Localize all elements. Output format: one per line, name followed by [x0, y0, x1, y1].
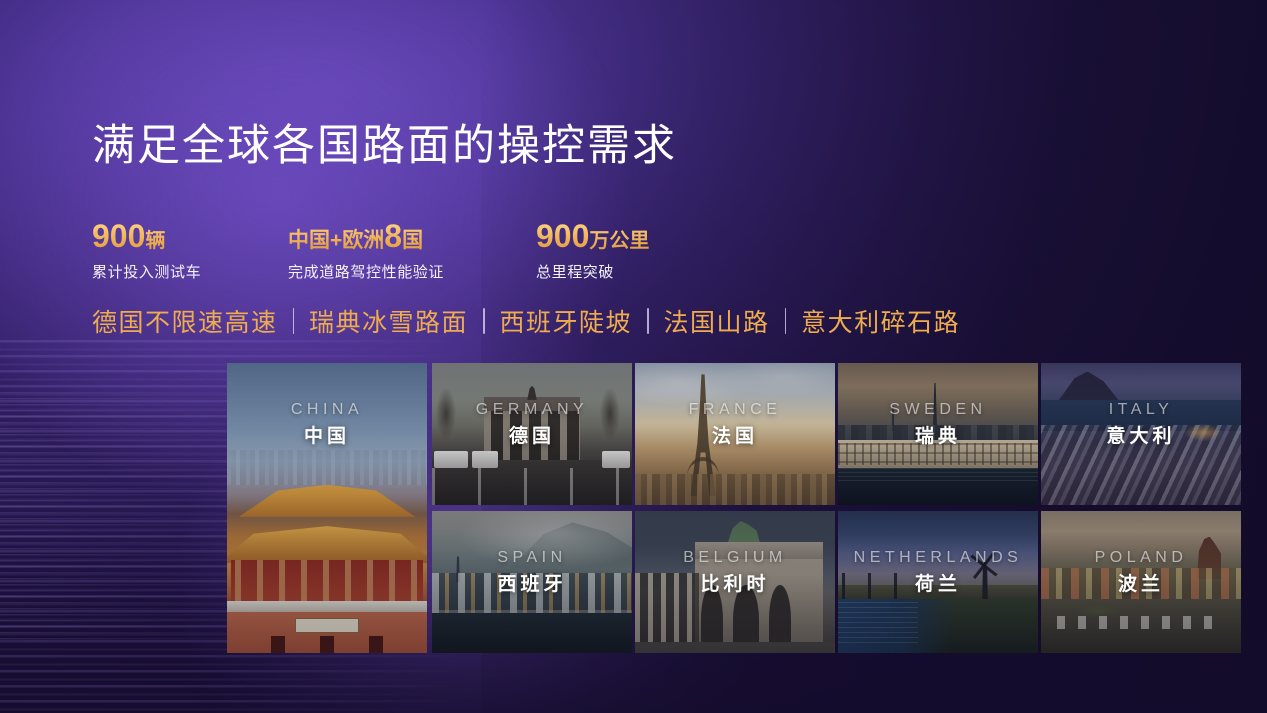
stat-value: 900辆 — [92, 219, 288, 255]
road-types-list: 德国不限速高速 瑞典冰雪路面 西班牙陡坡 法国山路 意大利碎石路 — [92, 303, 960, 339]
tile-caption: FRANCE 法国 — [635, 401, 835, 448]
tile-italy[interactable]: ITALY 意大利 — [1041, 363, 1241, 505]
stat-unit: 万公里 — [589, 230, 649, 252]
stat-countries: 中国+欧洲8国 完成道路驾控性能验证 — [288, 219, 536, 282]
road-type-item: 德国不限速高速 — [92, 303, 278, 339]
tile-france[interactable]: FRANCE 法国 — [635, 363, 835, 505]
tile-label-zh: 法国 — [635, 421, 835, 448]
road-type-item: 西班牙陡坡 — [500, 303, 633, 339]
tile-label-zh: 荷兰 — [838, 569, 1038, 596]
stat-number: 900 — [92, 218, 145, 254]
tile-caption: ITALY 意大利 — [1041, 401, 1241, 448]
tile-caption: SPAIN 西班牙 — [432, 549, 632, 596]
road-type-separator — [785, 308, 787, 334]
tile-caption: SWEDEN 瑞典 — [838, 401, 1038, 448]
tile-caption: POLAND 波兰 — [1041, 549, 1241, 596]
tile-label-en: NETHERLANDS — [838, 549, 1038, 567]
road-type-item: 瑞典冰雪路面 — [309, 303, 468, 339]
road-type-separator — [647, 308, 649, 334]
tile-sweden[interactable]: SWEDEN 瑞典 — [838, 363, 1038, 505]
stat-label: 完成道路驾控性能验证 — [288, 261, 536, 282]
tile-label-en: GERMANY — [432, 401, 632, 419]
tile-caption: NETHERLANDS 荷兰 — [838, 549, 1038, 596]
stat-unit: 辆 — [145, 230, 165, 252]
tile-china[interactable]: CHINA 中国 — [227, 363, 427, 653]
tile-label-en: BELGIUM — [635, 549, 835, 567]
slide-root: 满足全球各国路面的操控需求 900辆 累计投入测试车 中国+欧洲8国 完成道路驾… — [0, 0, 1267, 713]
stat-label: 累计投入测试车 — [92, 261, 288, 282]
stat-total-mileage: 900万公里 总里程突破 — [536, 219, 649, 282]
tile-label-en: POLAND — [1041, 549, 1241, 567]
tile-label-zh: 德国 — [432, 421, 632, 448]
tile-spain[interactable]: SPAIN 西班牙 — [432, 511, 632, 653]
tile-label-en: FRANCE — [635, 401, 835, 419]
road-type-separator — [293, 308, 295, 334]
road-type-item: 法国山路 — [664, 303, 770, 339]
tile-label-zh: 瑞典 — [838, 421, 1038, 448]
country-tile-grid: CHINA 中国 GERMANY 德国 — [227, 363, 1241, 653]
tile-label-en: CHINA — [227, 401, 427, 419]
tile-label-zh: 比利时 — [635, 569, 835, 596]
stat-test-vehicles: 900辆 累计投入测试车 — [92, 219, 288, 282]
stat-number: 8 — [384, 218, 402, 254]
tile-caption: BELGIUM 比利时 — [635, 549, 835, 596]
tile-label-en: ITALY — [1041, 401, 1241, 419]
tile-label-zh: 中国 — [227, 421, 427, 448]
tile-label-zh: 西班牙 — [432, 569, 632, 596]
stat-unit: 国 — [402, 229, 423, 252]
tile-caption: CHINA 中国 — [227, 401, 427, 448]
stat-value: 900万公里 — [536, 219, 649, 255]
tile-label-en: SWEDEN — [838, 401, 1038, 419]
tile-poland[interactable]: POLAND 波兰 — [1041, 511, 1241, 653]
stat-prefix: 中国+欧洲 — [288, 229, 384, 252]
tile-caption: GERMANY 德国 — [432, 401, 632, 448]
stat-number: 900 — [536, 218, 589, 254]
tile-belgium[interactable]: BELGIUM 比利时 — [635, 511, 835, 653]
tile-label-en: SPAIN — [432, 549, 632, 567]
page-title: 满足全球各国路面的操控需求 — [92, 121, 677, 172]
tile-label-zh: 波兰 — [1041, 569, 1241, 596]
tile-netherlands[interactable]: NETHERLANDS 荷兰 — [838, 511, 1038, 653]
stat-label: 总里程突破 — [536, 261, 649, 282]
stats-row: 900辆 累计投入测试车 中国+欧洲8国 完成道路驾控性能验证 900万公里 总… — [92, 219, 649, 282]
road-type-item: 意大利碎石路 — [801, 303, 960, 339]
tile-label-zh: 意大利 — [1041, 421, 1241, 448]
stat-value: 中国+欧洲8国 — [288, 219, 536, 255]
tile-germany[interactable]: GERMANY 德国 — [432, 363, 632, 505]
road-type-separator — [483, 308, 485, 334]
